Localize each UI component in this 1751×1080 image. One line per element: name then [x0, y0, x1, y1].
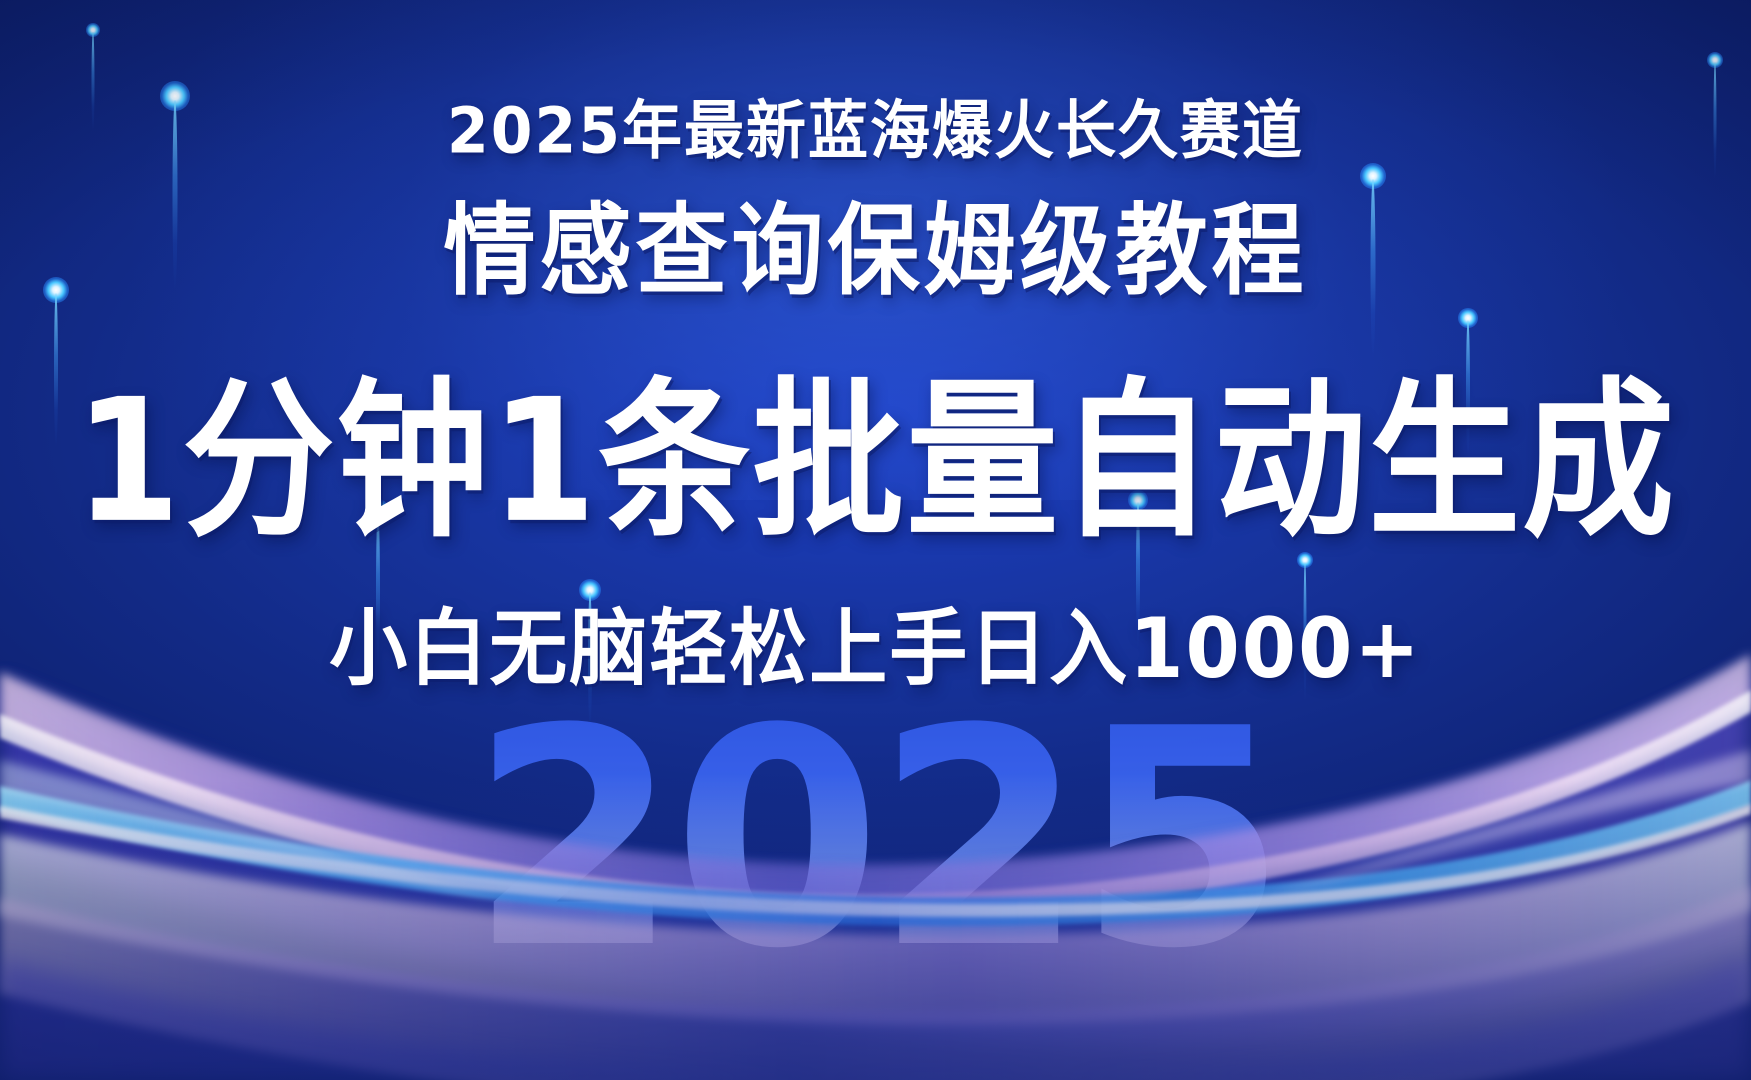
eyebrow-text: 2025年最新蓝海爆火长久赛道 [0, 79, 1751, 171]
subtitle-text: 情感查询保姆级教程 [0, 171, 1751, 315]
main-headline-text: 1分钟1条批量自动生成 [0, 323, 1751, 569]
promo-banner: 2025 [0, 0, 1751, 1080]
headline-stack: 2025年最新蓝海爆火长久赛道 情感查询保姆级教程 1分钟1条批量自动生成 小白… [0, 0, 1751, 1080]
tagline-text: 小白无脑轻松上手日入1000+ [0, 583, 1751, 702]
